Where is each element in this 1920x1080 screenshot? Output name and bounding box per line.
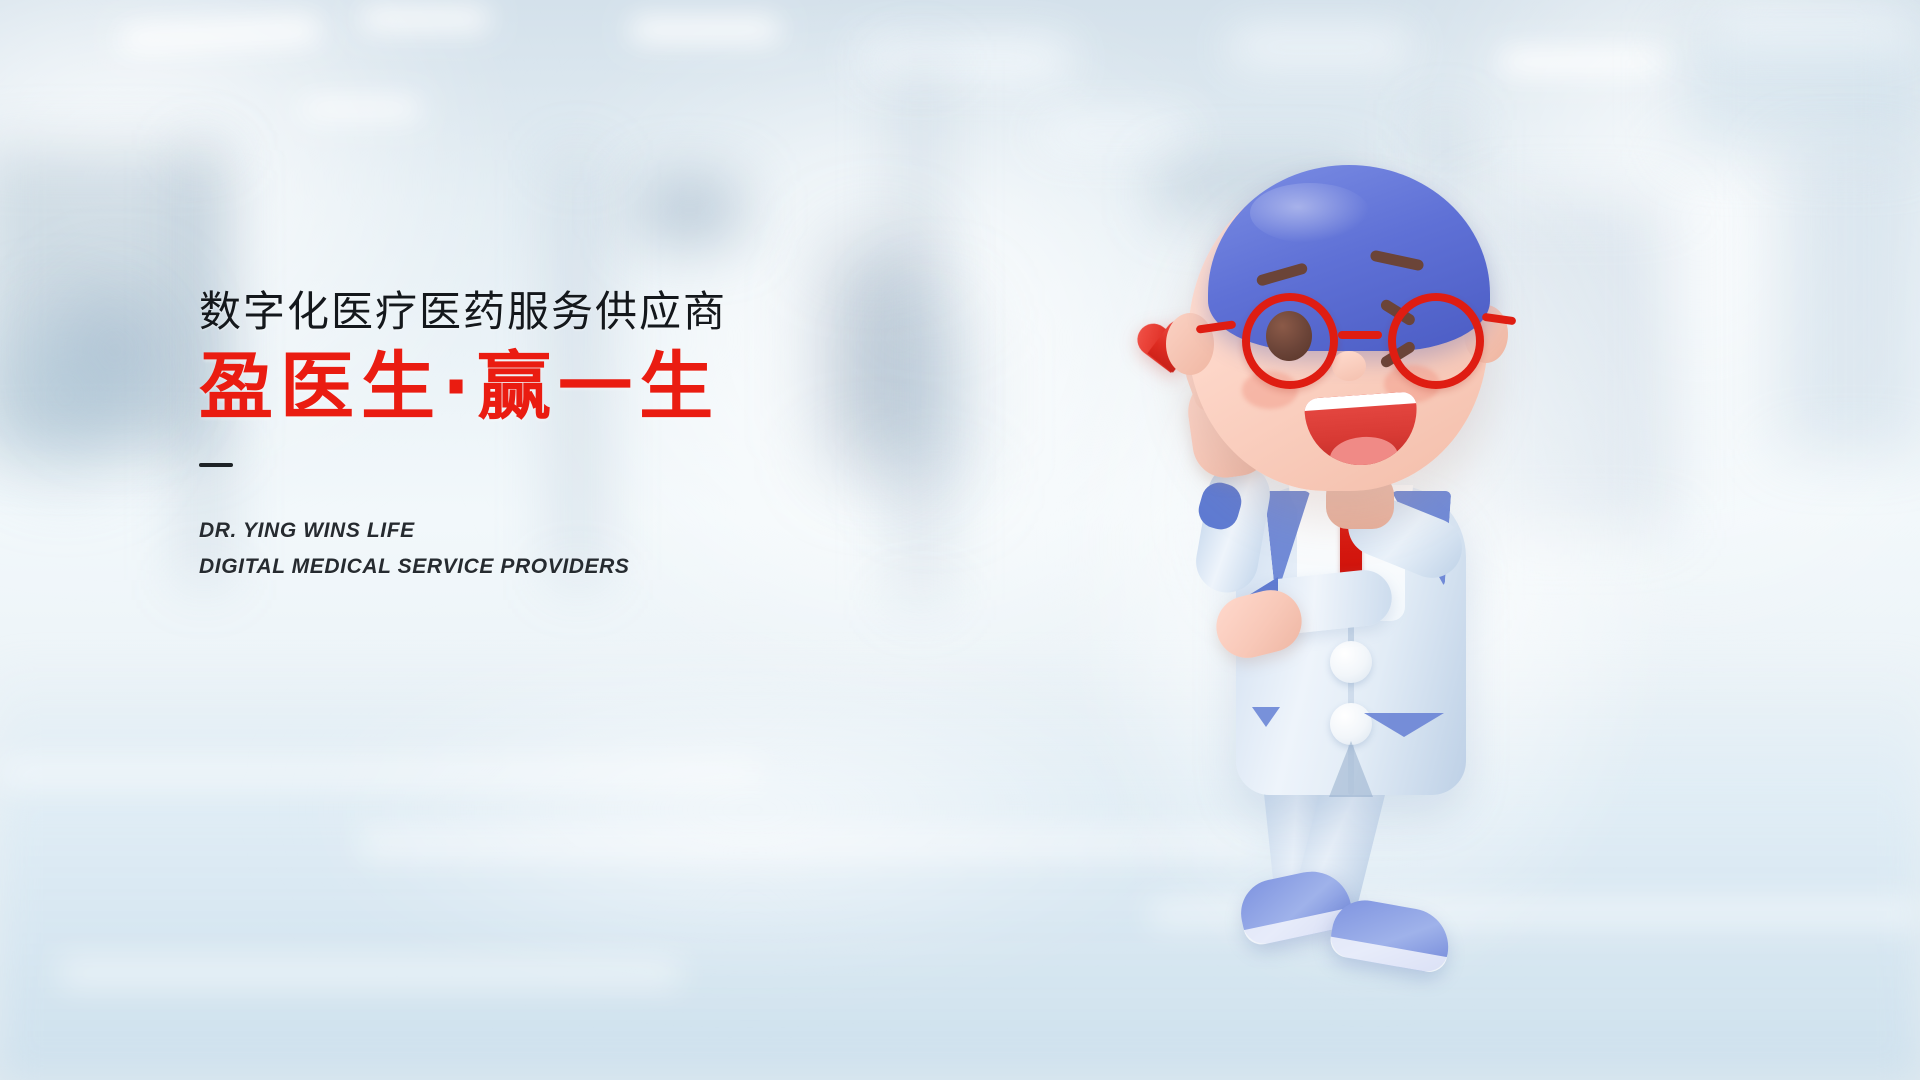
mascot-head xyxy=(1188,173,1488,491)
coat-vent xyxy=(1329,741,1373,797)
coat-pocket xyxy=(1364,713,1444,737)
hero-headline: 盈医生·赢一生 xyxy=(199,349,959,427)
coat-button xyxy=(1330,641,1372,683)
bg-figure xyxy=(0,320,130,470)
bg-structure xyxy=(1680,30,1920,150)
tongue xyxy=(1329,435,1400,469)
ceiling-lamp xyxy=(630,18,780,42)
hero-banner: 数字化医疗医药服务供应商 盈医生·赢一生 DR. YING WINS LIFE … xyxy=(0,0,1920,1080)
glasses-bridge xyxy=(1338,331,1382,339)
bg-structure xyxy=(1780,150,1920,450)
ceiling-lamp xyxy=(860,40,1070,80)
hero-divider xyxy=(199,463,233,467)
bg-structure xyxy=(640,180,740,240)
doctor-mascot-illustration xyxy=(1150,55,1570,1035)
hero-english-block: DR. YING WINS LIFE DIGITAL MEDICAL SERVI… xyxy=(199,513,959,585)
ceiling-lamp xyxy=(300,100,420,118)
smiling-mouth xyxy=(1304,391,1421,469)
hero-kicker: 数字化医疗医药服务供应商 xyxy=(199,288,959,335)
bg-floor-reflection xyxy=(60,960,680,986)
cap-highlight xyxy=(1250,183,1370,243)
ear-left xyxy=(1166,313,1214,375)
round-glasses-icon xyxy=(1224,293,1492,397)
glasses-lens-left xyxy=(1242,293,1338,389)
hero-copy: 数字化医疗医药服务供应商 盈医生·赢一生 DR. YING WINS LIFE … xyxy=(199,288,959,585)
hero-english-line-2: DIGITAL MEDICAL SERVICE PROVIDERS xyxy=(199,549,959,585)
ceiling-lamp xyxy=(360,8,490,30)
glasses-lens-right xyxy=(1388,293,1484,389)
hero-english-line-1: DR. YING WINS LIFE xyxy=(199,513,959,549)
coat-pocket xyxy=(1252,707,1280,727)
